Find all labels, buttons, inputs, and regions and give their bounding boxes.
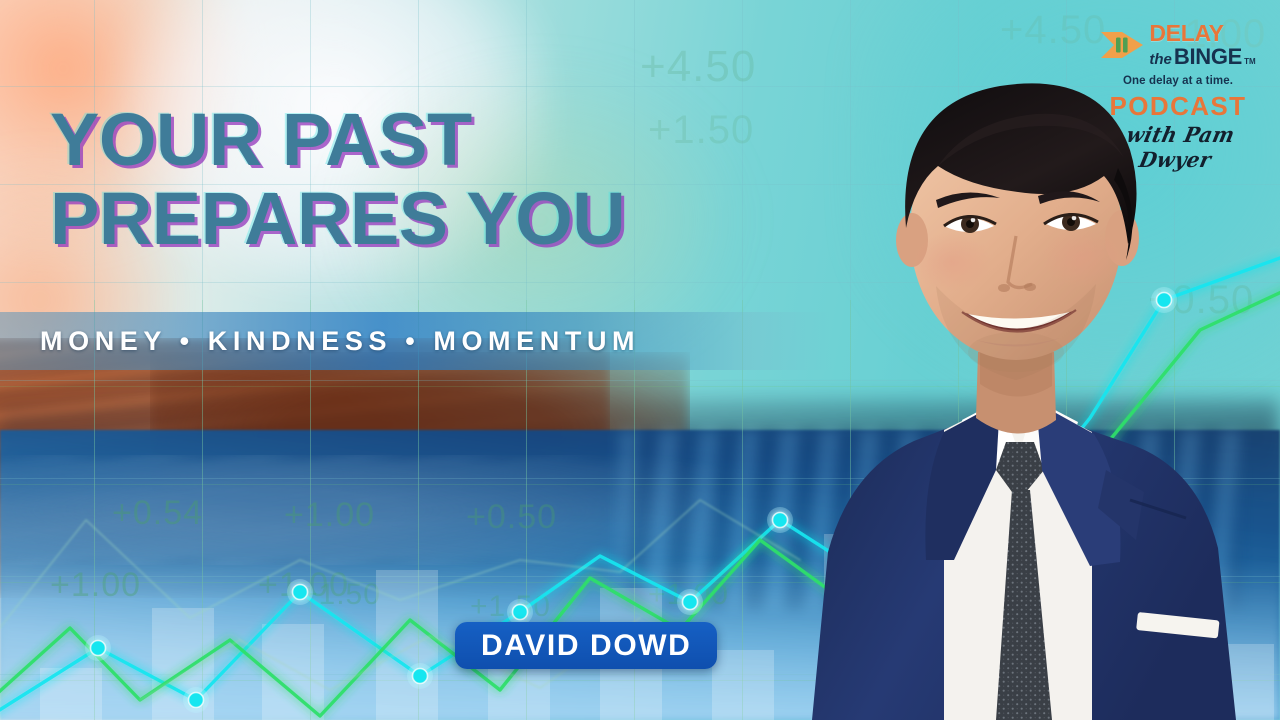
chart-node xyxy=(293,585,308,600)
title-line-2: PREPARES YOU xyxy=(50,183,770,256)
chart-node xyxy=(513,605,528,620)
chart-bar xyxy=(40,668,102,720)
play-arrow-icon xyxy=(1100,28,1144,62)
logo-wordmark-row: DELAY the BINGE TM xyxy=(1094,22,1262,68)
podcast-logo[interactable]: DELAY the BINGE TM One delay at a time. … xyxy=(1094,22,1262,171)
chart-node xyxy=(683,595,698,610)
subtitle-text: MONEY • KINDNESS • MOMENTUM xyxy=(40,326,640,357)
podcast-label: PODCAST xyxy=(1094,91,1262,122)
logo-trademark: TM xyxy=(1244,58,1256,66)
logo-binge-text: BINGE xyxy=(1174,46,1242,68)
podcast-thumbnail: +4.50+1.00+4.50+1.50+0.50+0.54+1.00+0.50… xyxy=(0,0,1280,720)
logo-words: DELAY the BINGE TM xyxy=(1149,22,1255,68)
chart-bar xyxy=(262,624,324,720)
chart-node xyxy=(189,693,204,708)
guest-name-badge[interactable]: DAVID DOWD xyxy=(455,622,717,669)
chart-node xyxy=(91,641,106,656)
logo-tagline: One delay at a time. xyxy=(1094,75,1262,87)
logo-the-text: the xyxy=(1149,52,1172,67)
page-title: YOUR PAST PREPARES YOU xyxy=(50,104,770,255)
title-line-1: YOUR PAST xyxy=(50,98,472,181)
logo-binge-row: the BINGE TM xyxy=(1149,46,1255,68)
logo-delay-text: DELAY xyxy=(1149,22,1223,45)
guest-name-label: DAVID DOWD xyxy=(481,629,691,663)
host-name-script: with Pam Dwyer xyxy=(1089,122,1268,172)
chart-node xyxy=(413,669,428,684)
